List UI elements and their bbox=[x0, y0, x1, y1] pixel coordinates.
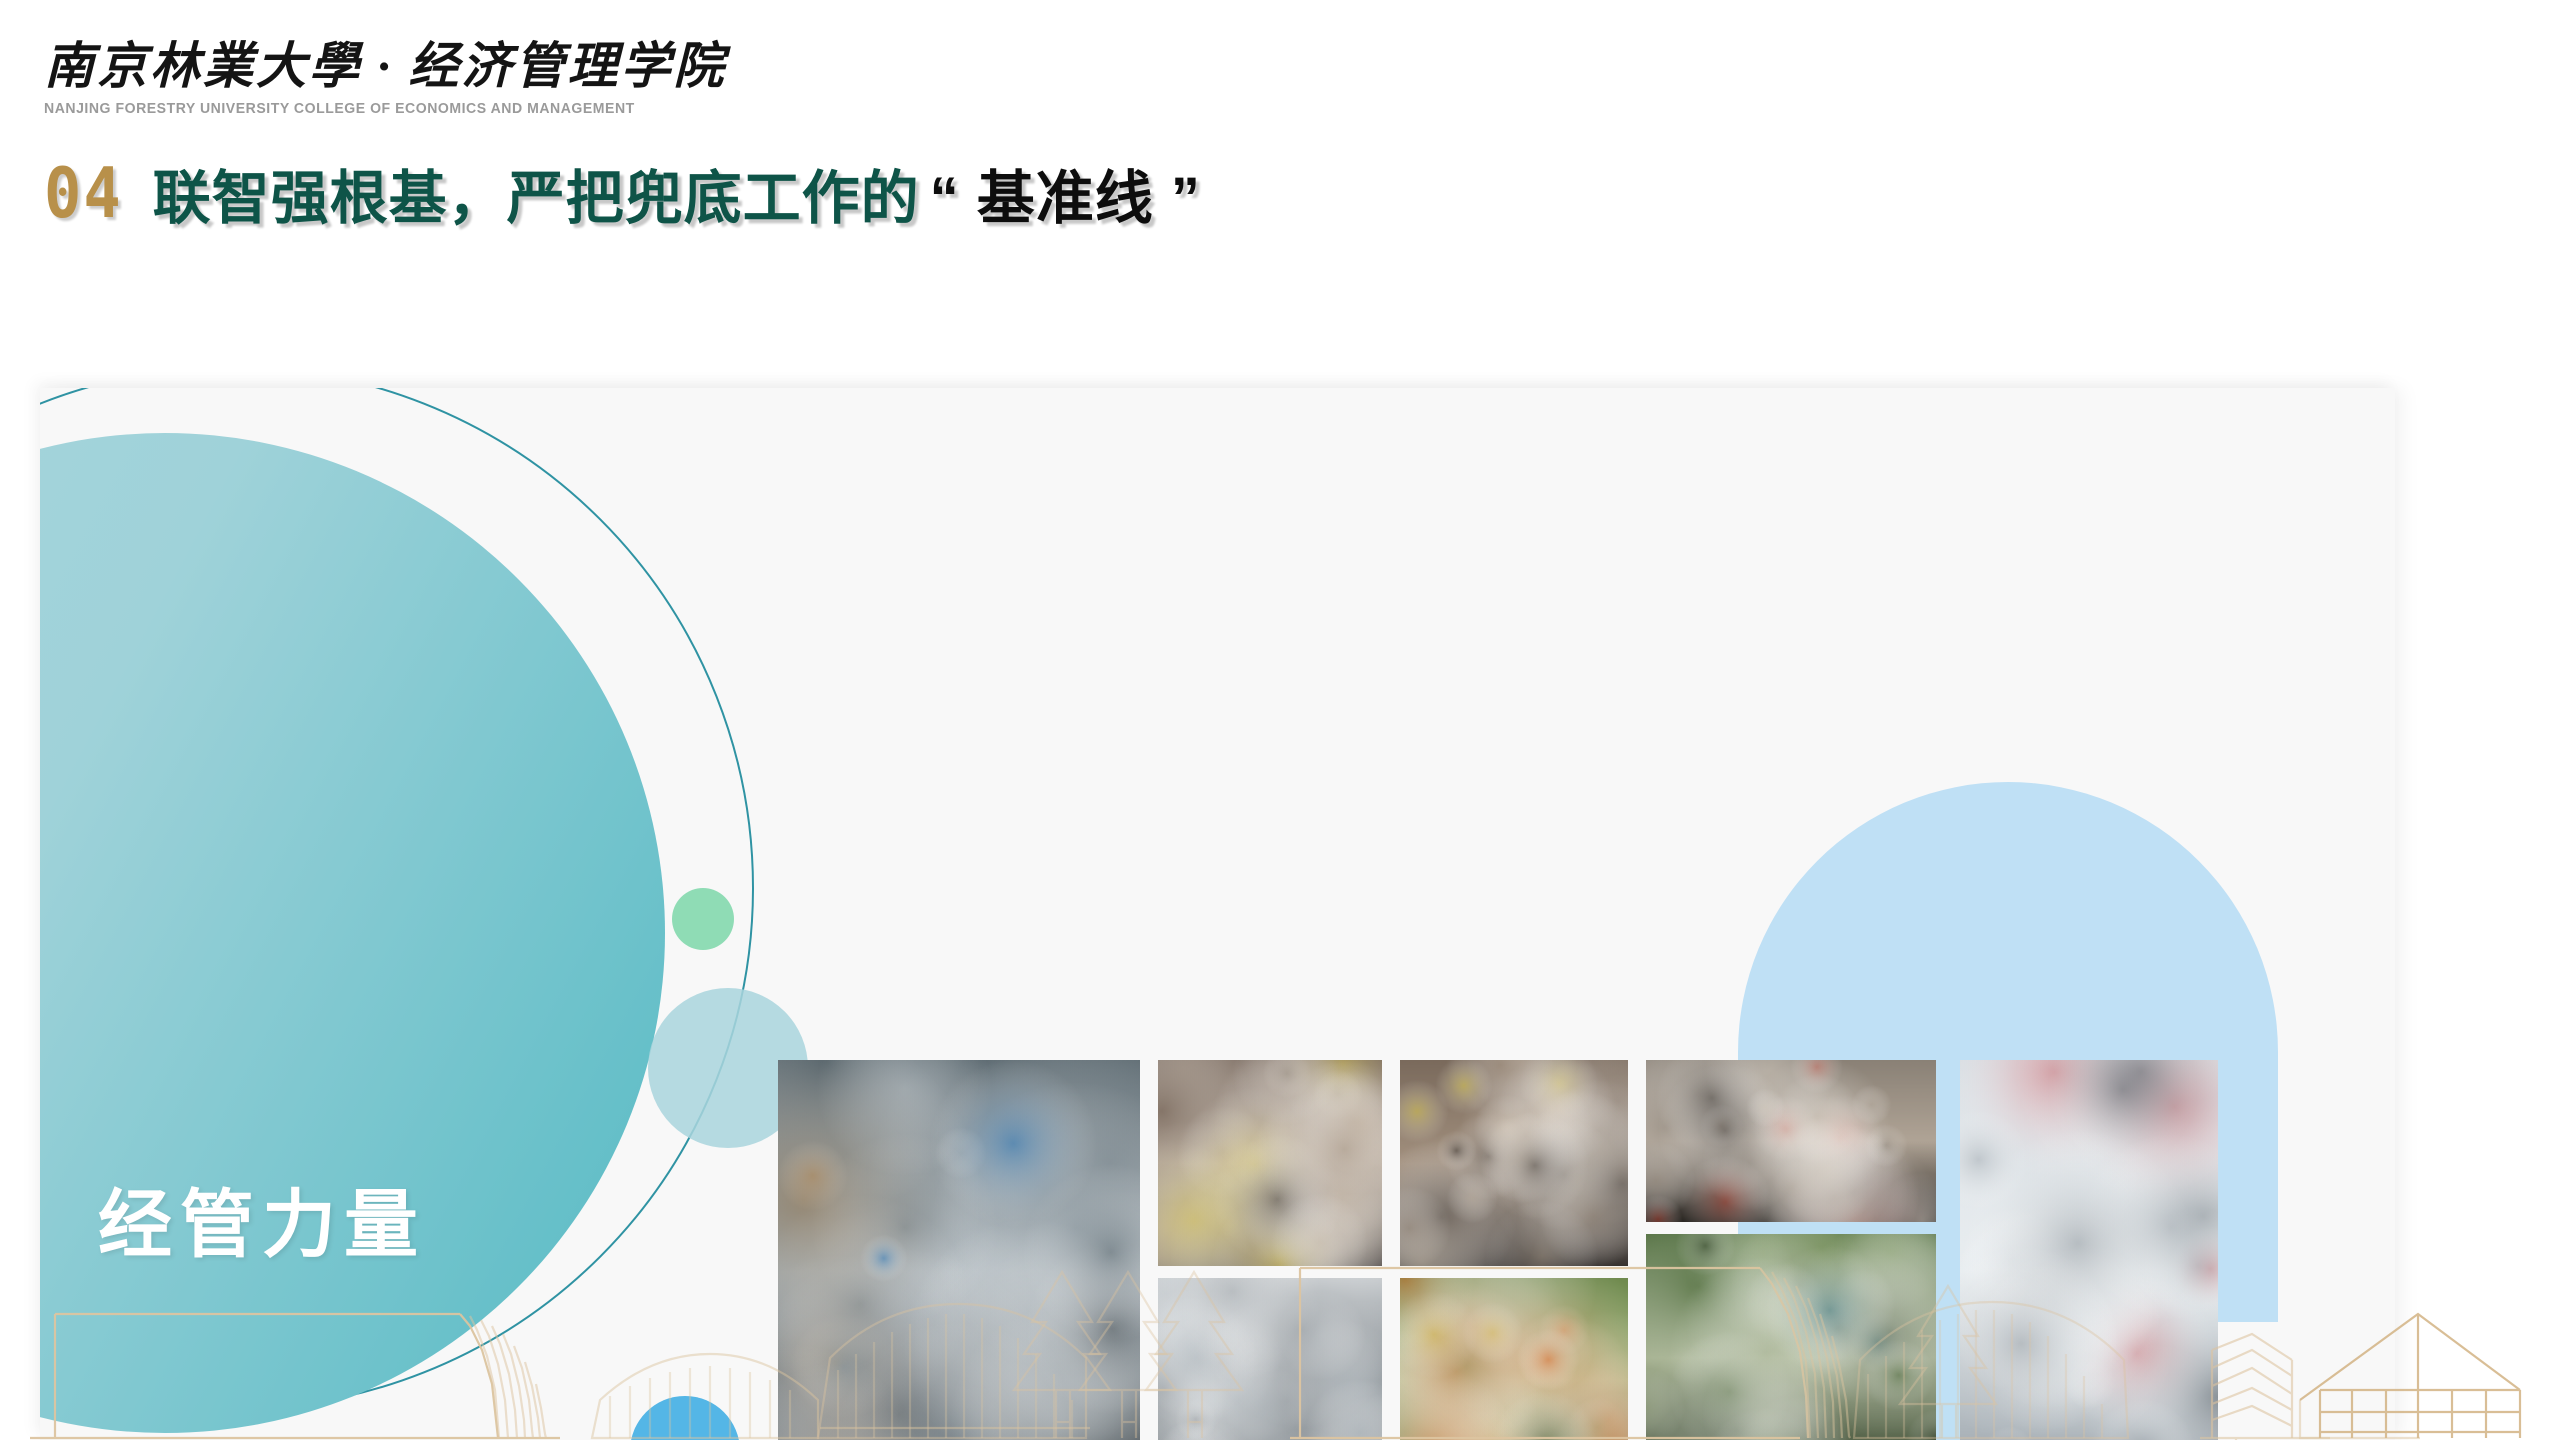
decorative-circle-green bbox=[672, 888, 734, 950]
section-number: 04 bbox=[44, 159, 123, 228]
logo-english-name: NANJING FORESTRY UNIVERSITY COLLEGE OF E… bbox=[44, 101, 723, 117]
skyline-decoration bbox=[0, 1250, 2560, 1440]
section-title-quoted: “ 基准线 ” bbox=[930, 170, 1201, 228]
photo-dormitory-meal-delivery-image bbox=[1158, 1060, 1382, 1266]
slide: 南京林業大學 · 经济管理学院 NANJING FORESTRY UNIVERS… bbox=[0, 0, 2560, 1440]
photo-group-back-view-hallway bbox=[1646, 1060, 1936, 1222]
photo-dormitory-meal-delivery bbox=[1158, 1060, 1382, 1266]
logo-chinese-name: 南京林業大學 · 经济管理学院 bbox=[44, 38, 744, 94]
photo-handing-yellow-bag-at-door bbox=[1400, 1060, 1628, 1266]
university-logo: 南京林業大學 · 经济管理学院 NANJING FORESTRY UNIVERS… bbox=[44, 38, 744, 117]
photo-group-back-view-hallway-image bbox=[1646, 1060, 1936, 1222]
section-title: 04 联智强根基，严把兜底工作的 “ 基准线 ” bbox=[44, 166, 1201, 228]
section-title-main: 联智强根基，严把兜底工作的 bbox=[153, 170, 920, 228]
photo-handing-yellow-bag-at-door-image bbox=[1400, 1060, 1628, 1266]
